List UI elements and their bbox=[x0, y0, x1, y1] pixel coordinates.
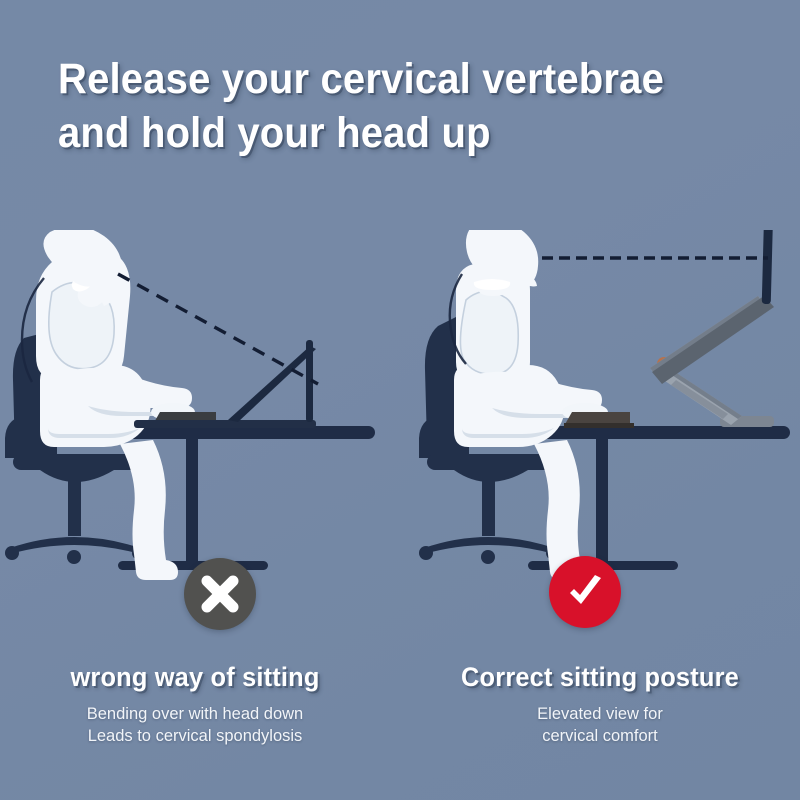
desk-correct bbox=[460, 426, 790, 570]
cross-icon bbox=[197, 571, 243, 617]
poster-canvas: Release your cervical vertebrae and hold… bbox=[0, 0, 800, 800]
caption-wrong-title: wrong way of sitting bbox=[7, 662, 383, 693]
caption-correct-title: Correct sitting posture bbox=[412, 662, 788, 693]
page-title: Release your cervical vertebrae and hold… bbox=[58, 52, 690, 160]
caption-correct-subtitle: Elevated view for cervical comfort bbox=[400, 703, 800, 748]
desk-items-correct bbox=[562, 403, 634, 428]
caption-wrong-subtitle: Bending over with head down Leads to cer… bbox=[0, 703, 395, 748]
caption-correct: Correct sitting posture Elevated view fo… bbox=[400, 662, 800, 748]
status-badge-wrong bbox=[184, 558, 256, 630]
caption-wrong: wrong way of sitting Bending over with h… bbox=[0, 662, 395, 748]
check-icon bbox=[562, 569, 608, 615]
status-badge-correct bbox=[549, 556, 621, 628]
